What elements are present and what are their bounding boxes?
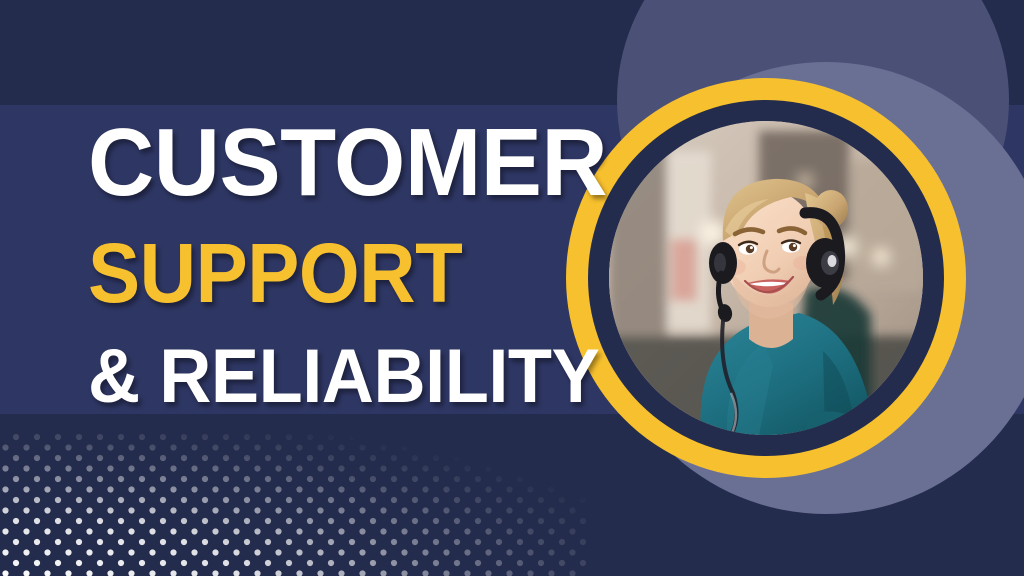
headline-block: CUSTOMER SUPPORT & RELIABILITY [88,118,568,413]
banner-canvas: CUSTOMER SUPPORT & RELIABILITY [0,0,1024,576]
headline-line-3: & RELIABILITY [88,341,544,412]
headline-line-2: SUPPORT [88,234,534,313]
portrait-photo [609,121,923,435]
headline-line-1: CUSTOMER [88,118,546,208]
portrait-medallion [566,78,966,478]
